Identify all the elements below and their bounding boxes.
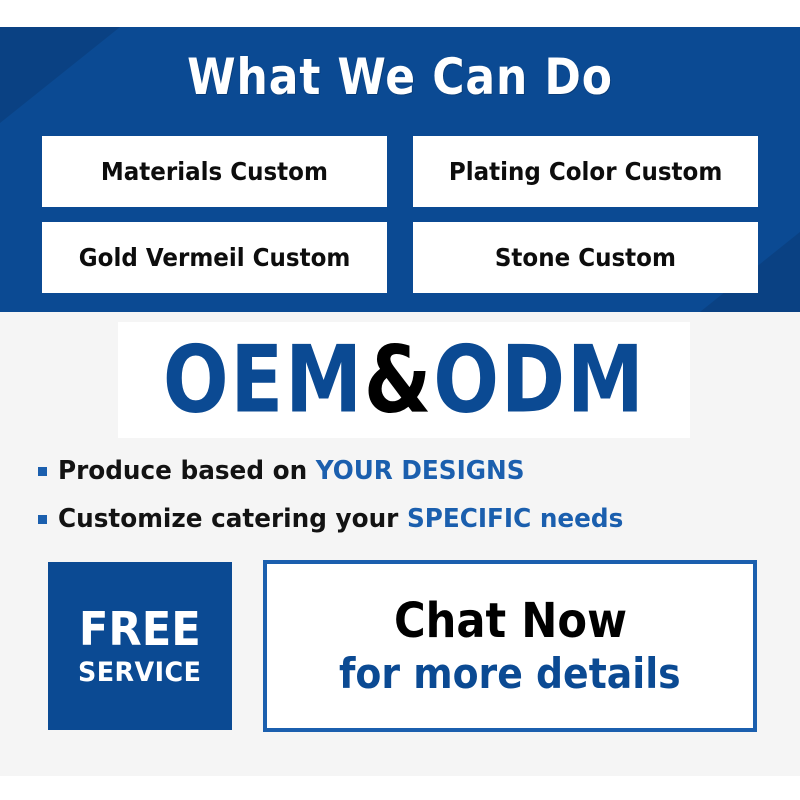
free-service-badge: FREE SERVICE: [48, 562, 232, 730]
square-bullet-icon: [38, 515, 47, 524]
bullet-lead: Produce based on: [58, 456, 316, 486]
capability-card-grid: Materials Custom Plating Color Custom Go…: [42, 136, 758, 293]
promo-banner: What We Can Do Materials Custom Plating …: [0, 0, 800, 800]
bullet-highlight: SPECIFIC needs: [407, 504, 623, 534]
chat-now-subtitle: for more details: [339, 650, 681, 698]
capability-card-label: Materials Custom: [101, 157, 328, 186]
bullet-lead: Customize catering your: [58, 504, 407, 534]
capability-card-gold-vermeil[interactable]: Gold Vermeil Custom: [42, 222, 387, 293]
capability-card-label: Plating Color Custom: [449, 157, 722, 186]
capability-card-plating-color[interactable]: Plating Color Custom: [413, 136, 758, 207]
chat-now-title: Chat Now: [393, 594, 626, 648]
free-service-subline: SERVICE: [78, 658, 202, 688]
oem-odm-heading: OEM&ODM: [163, 331, 646, 428]
list-item: Customize catering your SPECIFIC needs: [38, 500, 762, 538]
chat-now-button[interactable]: Chat Now for more details: [263, 560, 757, 732]
panel-title: What We Can Do: [48, 49, 752, 105]
bullet-text: Customize catering your SPECIFIC needs: [58, 504, 623, 534]
bullet-highlight: YOUR DESIGNS: [316, 456, 525, 486]
square-bullet-icon: [38, 467, 47, 476]
capability-card-label: Gold Vermeil Custom: [79, 243, 351, 272]
feature-bullet-list: Produce based on YOUR DESIGNS Customize …: [38, 452, 762, 548]
free-service-headline: FREE: [79, 604, 201, 654]
capability-card-label: Stone Custom: [495, 243, 676, 272]
capability-card-materials[interactable]: Materials Custom: [42, 136, 387, 207]
list-item: Produce based on YOUR DESIGNS: [38, 452, 762, 490]
capabilities-panel: What We Can Do Materials Custom Plating …: [0, 27, 800, 312]
ampersand-label: &: [364, 326, 433, 434]
oem-label: OEM: [163, 326, 364, 434]
odm-label: ODM: [433, 326, 645, 434]
chat-now-inner: Chat Now for more details: [271, 568, 749, 724]
capability-card-stone[interactable]: Stone Custom: [413, 222, 758, 293]
bullet-text: Produce based on YOUR DESIGNS: [58, 456, 525, 486]
oem-odm-banner: OEM&ODM: [118, 322, 690, 438]
